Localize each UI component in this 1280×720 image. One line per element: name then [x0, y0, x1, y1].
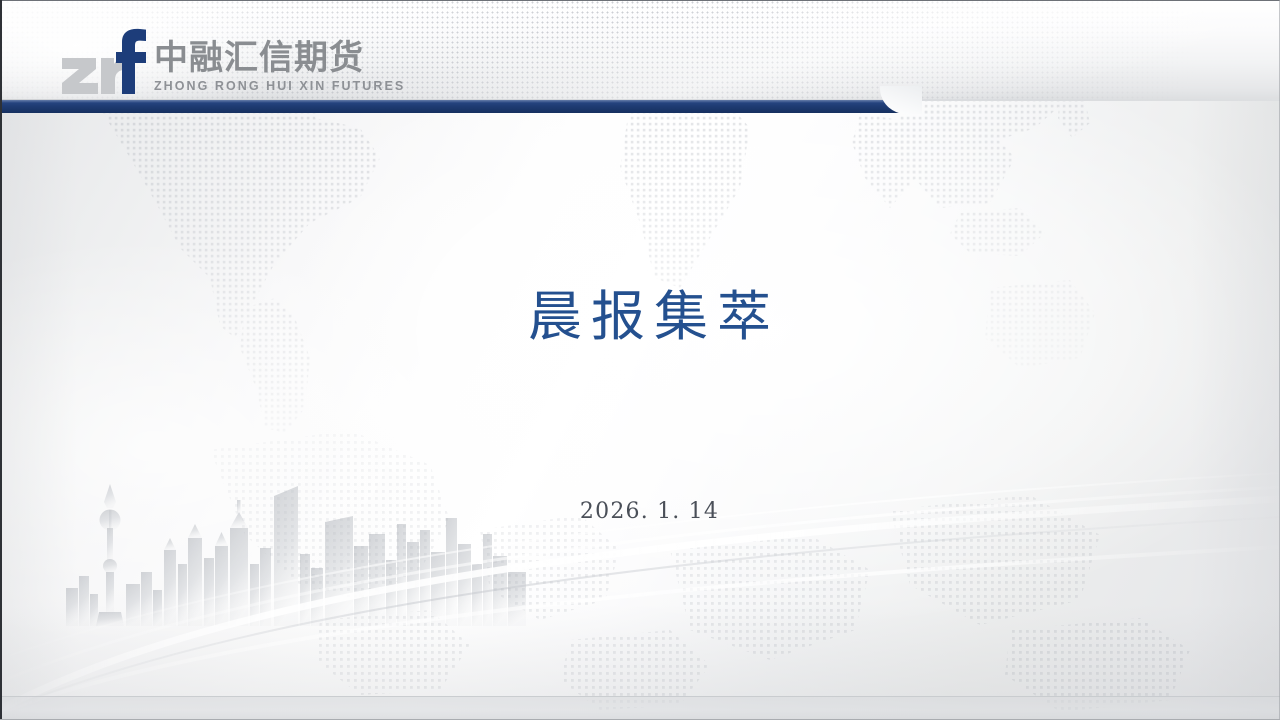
- company-name-en: ZHONG RONG HUI XIN FUTURES: [154, 78, 405, 94]
- zrf-logomark-icon: [60, 28, 148, 96]
- navy-accent-bar: [0, 100, 906, 113]
- slide-date: 2026. 1. 14: [0, 496, 1280, 528]
- company-name-cn: 中融汇信期货: [154, 39, 405, 77]
- navy-accent-bar-shine: [0, 100, 896, 103]
- logo-text-block: 中融汇信期货 ZHONG RONG HUI XIN FUTURES: [154, 39, 405, 96]
- bottom-band: [0, 696, 1280, 720]
- frame-edge-top: [0, 0, 1280, 1]
- slide-title: 晨报集萃: [0, 283, 1280, 351]
- cover-slide: 中融汇信期货 ZHONG RONG HUI XIN FUTURES 晨报集萃 2…: [0, 0, 1280, 720]
- bottom-band-divider: [0, 696, 1280, 697]
- company-logo[interactable]: 中融汇信期货 ZHONG RONG HUI XIN FUTURES: [60, 26, 405, 96]
- frame-edge-left: [0, 0, 2, 720]
